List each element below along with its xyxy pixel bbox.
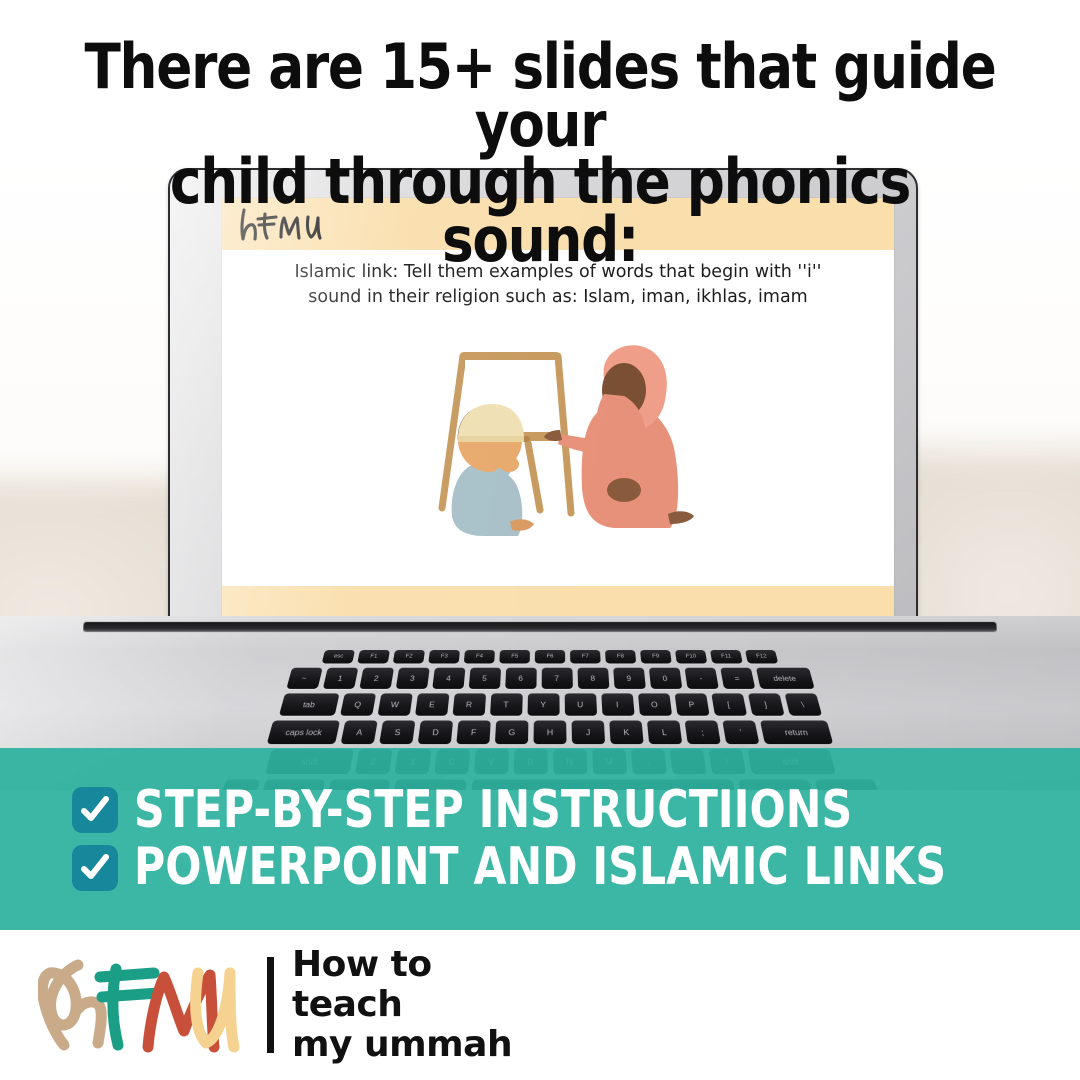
key[interactable]: 7 bbox=[541, 668, 572, 689]
key[interactable]: 6 bbox=[505, 668, 537, 689]
slide-illustration-icon bbox=[408, 338, 708, 558]
key[interactable]: \ bbox=[784, 693, 822, 715]
list-item: POWERPOINT AND ISLAMIC LINKS bbox=[72, 841, 1080, 894]
feature-banner: STEP-BY-STEP INSTRUCTIIONS POWERPOINT AN… bbox=[0, 748, 1080, 930]
check-icon bbox=[72, 787, 118, 833]
list-item: STEP-BY-STEP INSTRUCTIIONS bbox=[72, 784, 1080, 837]
key[interactable]: K bbox=[609, 721, 643, 745]
checkmark-glyph bbox=[80, 853, 110, 883]
key[interactable]: 1 bbox=[322, 668, 358, 689]
key[interactable]: F9 bbox=[640, 650, 672, 663]
key[interactable]: R bbox=[452, 693, 486, 715]
key[interactable]: - bbox=[684, 668, 718, 689]
key-caps-lock[interactable]: caps lock bbox=[267, 721, 340, 745]
logo-divider bbox=[267, 957, 274, 1053]
key[interactable]: W bbox=[377, 693, 412, 715]
key[interactable]: F4 bbox=[464, 650, 495, 663]
key[interactable]: 5 bbox=[468, 668, 500, 689]
keyboard-row-function: esc F1 F2 F3 F4 F5 F6 F7 F8 F9 F10 F11 F… bbox=[144, 650, 956, 663]
key[interactable]: 3 bbox=[395, 668, 429, 689]
key[interactable]: Y bbox=[527, 693, 559, 715]
key[interactable]: = bbox=[720, 668, 755, 689]
key[interactable]: T bbox=[489, 693, 522, 715]
key[interactable]: ] bbox=[747, 693, 784, 715]
key[interactable]: F11 bbox=[710, 650, 743, 663]
key[interactable]: O bbox=[637, 693, 671, 715]
key[interactable]: I bbox=[601, 693, 634, 715]
feature-label-1: STEP-BY-STEP INSTRUCTIIONS bbox=[134, 784, 852, 837]
key[interactable]: F12 bbox=[745, 650, 778, 663]
page-title: There are 15+ slides that guide your chi… bbox=[76, 38, 1005, 269]
key[interactable]: 8 bbox=[577, 668, 609, 689]
key[interactable]: H bbox=[533, 721, 566, 745]
key[interactable]: J bbox=[572, 721, 606, 745]
key[interactable]: F5 bbox=[499, 650, 530, 663]
key[interactable]: 0 bbox=[648, 668, 681, 689]
key[interactable]: [ bbox=[711, 693, 747, 715]
keyboard-row-home: caps lock A S D F G H J K L ; ' return bbox=[109, 721, 991, 745]
key[interactable]: E bbox=[414, 693, 448, 715]
key-return[interactable]: return bbox=[760, 721, 833, 745]
key[interactable]: esc bbox=[322, 650, 355, 663]
footer-branding: How to teach my ummah bbox=[0, 930, 1080, 1080]
key[interactable]: F2 bbox=[393, 650, 425, 663]
key[interactable]: F6 bbox=[535, 650, 565, 663]
key[interactable]: F8 bbox=[605, 650, 636, 663]
key[interactable]: S bbox=[379, 721, 415, 745]
key[interactable]: ' bbox=[722, 721, 759, 745]
checkmark-glyph bbox=[80, 795, 110, 825]
laptop-hinge bbox=[83, 622, 997, 632]
key[interactable]: F7 bbox=[570, 650, 601, 663]
keyboard-row-numbers: ~ 1 2 3 4 5 6 7 8 9 0 - = delete bbox=[133, 668, 967, 689]
htmu-logo-icon bbox=[38, 951, 263, 1059]
key[interactable]: F3 bbox=[428, 650, 460, 663]
keyboard[interactable]: esc F1 F2 F3 F4 F5 F6 F7 F8 F9 F10 F11 F… bbox=[101, 650, 998, 762]
check-icon bbox=[72, 845, 118, 891]
brand-name: How to teach my ummah bbox=[292, 945, 512, 1066]
key[interactable]: 4 bbox=[432, 668, 465, 689]
key[interactable]: 2 bbox=[359, 668, 394, 689]
key[interactable]: F10 bbox=[675, 650, 707, 663]
key[interactable]: F1 bbox=[357, 650, 390, 663]
promo-graphic: There are 15+ slides that guide your chi… bbox=[0, 0, 1080, 1080]
key[interactable]: ~ bbox=[286, 668, 322, 689]
key-tab[interactable]: tab bbox=[278, 693, 339, 715]
key[interactable]: Q bbox=[339, 693, 375, 715]
key[interactable]: P bbox=[674, 693, 709, 715]
feature-label-2: POWERPOINT AND ISLAMIC LINKS bbox=[134, 841, 946, 894]
key[interactable]: U bbox=[564, 693, 596, 715]
key[interactable]: A bbox=[341, 721, 378, 745]
key[interactable]: 9 bbox=[613, 668, 646, 689]
keyboard-row-qwerty: tab Q W E R T Y U I O P [ ] \ bbox=[121, 693, 978, 715]
key-delete[interactable]: delete bbox=[755, 668, 814, 689]
key[interactable]: ; bbox=[685, 721, 721, 745]
key[interactable]: G bbox=[495, 721, 529, 745]
key[interactable]: F bbox=[456, 721, 490, 745]
key[interactable]: L bbox=[647, 721, 682, 745]
key[interactable]: D bbox=[418, 721, 453, 745]
